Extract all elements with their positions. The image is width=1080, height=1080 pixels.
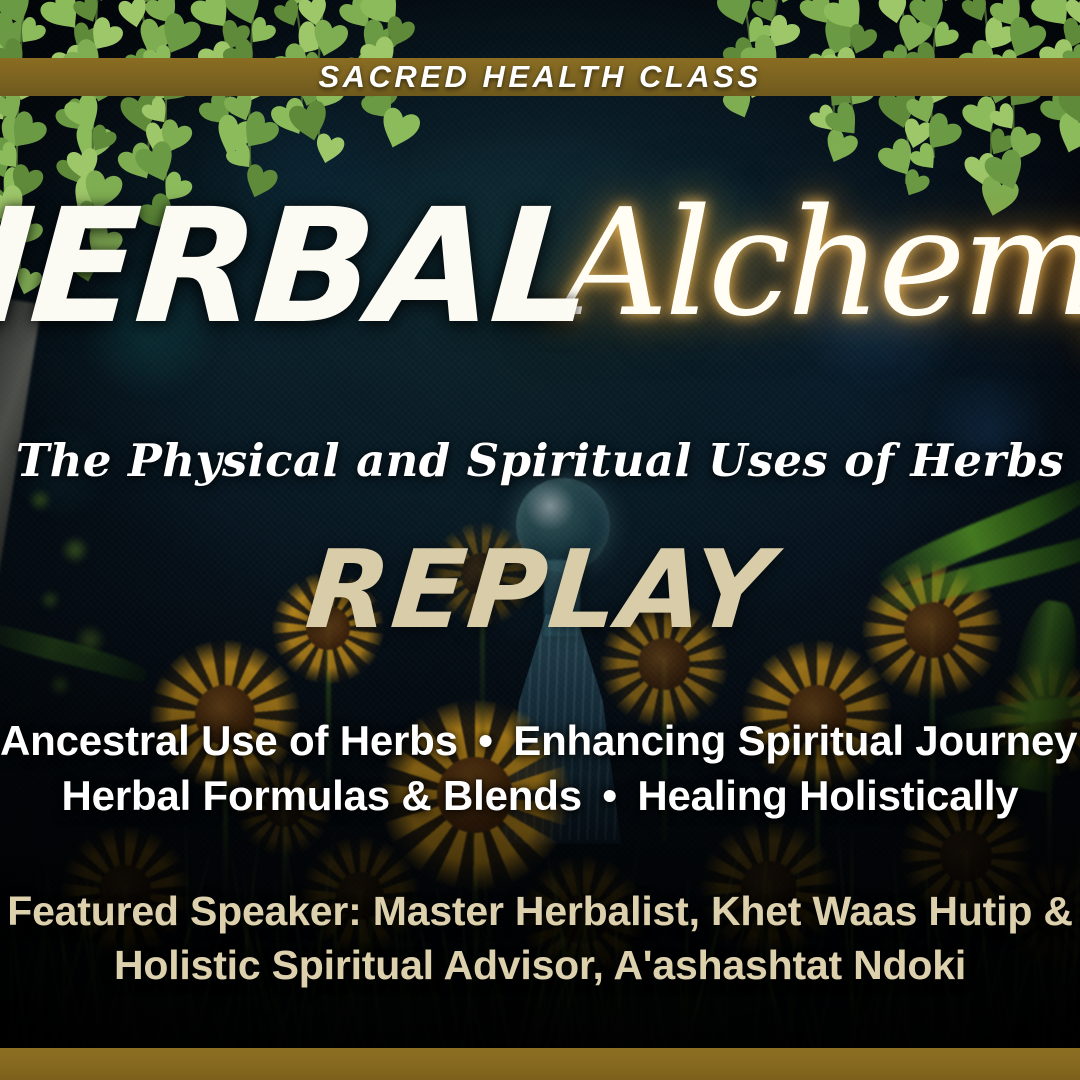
- title-word-alchemy: Alchemy: [562, 200, 1080, 327]
- bullet-dot-icon: •: [469, 717, 502, 764]
- topic-ancestral-use: Ancestral Use of Herbs: [0, 717, 458, 764]
- topics-line-1: Ancestral Use of Herbs • Enhancing Spiri…: [0, 714, 1080, 769]
- topic-herbal-formulas: Herbal Formulas & Blends: [62, 772, 582, 819]
- content-layer: SACRED HEALTH CLASS HERBAL Alchemy The P…: [0, 0, 1080, 1080]
- topics-list: Ancestral Use of Herbs • Enhancing Spiri…: [0, 714, 1080, 823]
- flyer-canvas: SACRED HEALTH CLASS HERBAL Alchemy The P…: [0, 0, 1080, 1080]
- bullet-dot-icon: •: [593, 772, 626, 819]
- topic-healing-holistically: Healing Holistically: [637, 772, 1018, 819]
- title-word-herbal: HERBAL: [0, 196, 595, 338]
- headline-title: HERBAL Alchemy: [0, 196, 1080, 338]
- topics-line-2: Herbal Formulas & Blends • Healing Holis…: [0, 769, 1080, 824]
- topic-enhancing-journey: Enhancing Spiritual Journey: [513, 717, 1077, 764]
- replay-badge-text: REPLAY: [0, 528, 1080, 653]
- subtitle-text: The Physical and Spiritual Uses of Herbs: [0, 434, 1080, 487]
- kicker-banner-text: SACRED HEALTH CLASS: [0, 58, 1080, 96]
- speaker-credit: Featured Speaker: Master Herbalist, Khet…: [0, 884, 1080, 992]
- speaker-line-2: Holistic Spiritual Advisor, A'ashashtat …: [0, 938, 1080, 992]
- speaker-line-1: Featured Speaker: Master Herbalist, Khet…: [0, 884, 1080, 938]
